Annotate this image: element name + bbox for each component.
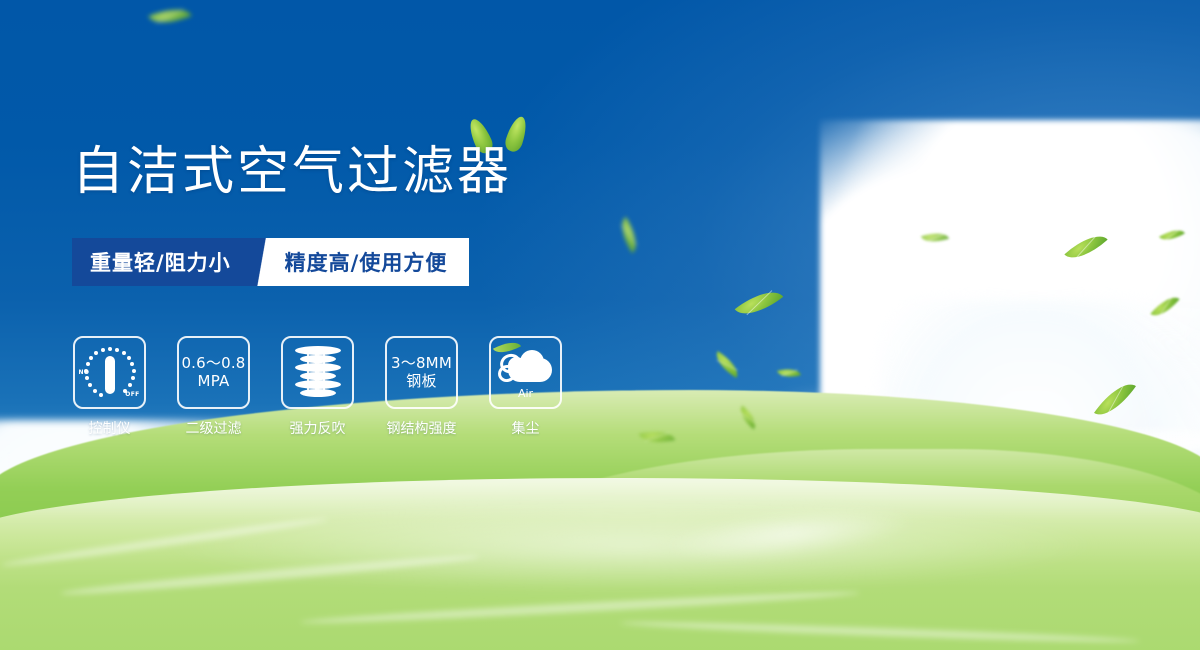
feature-icon-box: Air — [489, 336, 562, 409]
feature-item-secondary-filter: 0.6～0.8 MPA 二级过滤 — [176, 336, 251, 438]
feature-item-backblow: 强力反吹 — [280, 336, 355, 438]
gauge-off-label: OFF — [125, 391, 139, 398]
air-cloud-icon: Air — [498, 348, 554, 398]
feature-label: 二级过滤 — [186, 418, 242, 438]
gauge-no-label: NO — [79, 369, 90, 376]
feature-icon-box: 3～8MM 钢板 — [385, 336, 458, 409]
filter-coil-icon — [295, 346, 341, 400]
product-hero-banner: 自洁式空气过滤器 重量轻/阻力小 精度高/使用方便 — [0, 0, 1200, 650]
floating-leaf — [777, 365, 801, 380]
floating-leaf — [148, 1, 191, 31]
cloud-puff-small — [508, 357, 525, 374]
tagline-banner: 重量轻/阻力小 精度高/使用方便 — [72, 238, 469, 286]
feature-icon-box: 0.6～0.8 MPA — [177, 336, 250, 409]
floating-leaf — [711, 351, 743, 378]
pressure-unit: MPA — [181, 373, 245, 390]
pressure-value: 0.6～0.8 — [181, 354, 245, 372]
grass-field — [0, 420, 1200, 650]
gauge-icon: NO OFF — [79, 342, 141, 404]
page-title: 自洁式空气过滤器 — [72, 146, 512, 198]
feature-list: NO OFF 控制仪 0.6～0.8 MPA 二级过滤 — [72, 336, 563, 438]
feature-icon-box: NO OFF — [73, 336, 146, 409]
pressure-text-icon: 0.6～0.8 MPA — [181, 355, 245, 390]
feature-label: 控制仪 — [89, 418, 131, 438]
tagline-left: 重量轻/阻力小 — [72, 238, 251, 286]
tagline-right: 精度高/使用方便 — [277, 238, 470, 286]
floating-leaf — [614, 217, 644, 253]
air-label: Air — [498, 387, 554, 400]
feature-icon-box — [281, 336, 354, 409]
feature-label: 集尘 — [512, 418, 540, 438]
tagline-divider — [251, 238, 277, 286]
feature-label: 强力反吹 — [290, 418, 346, 438]
steel-material: 钢板 — [391, 373, 452, 390]
feature-item-dust-collection: Air 集尘 — [488, 336, 563, 438]
steel-thickness: 3～8MM — [391, 354, 452, 372]
feature-item-steel-strength: 3～8MM 钢板 钢结构强度 — [384, 336, 459, 438]
grass-light-path — [120, 490, 1100, 610]
feature-label: 钢结构强度 — [387, 418, 457, 438]
steel-plate-text-icon: 3～8MM 钢板 — [391, 355, 452, 390]
floating-leaf — [735, 281, 784, 325]
feature-item-controller: NO OFF 控制仪 — [72, 336, 147, 438]
gauge-needle — [105, 356, 115, 394]
